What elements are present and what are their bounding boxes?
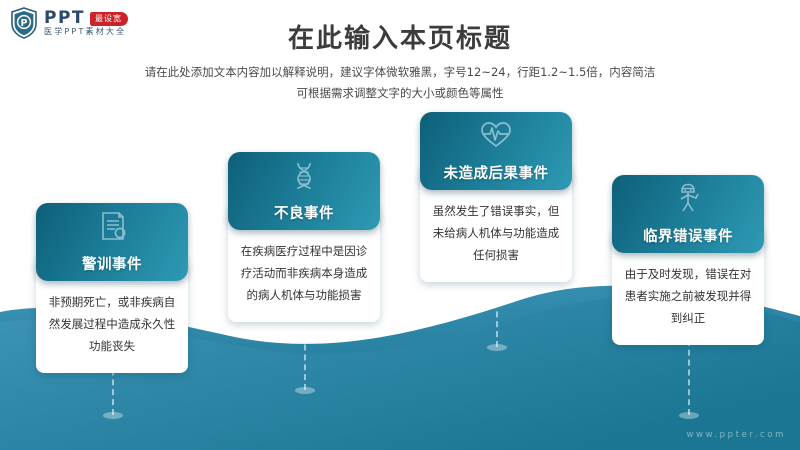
subtitle-line-1: 请在此处添加文本内容加以解释说明，建议字体微软雅黑，字号12~24，行距1.2~… (0, 62, 800, 83)
dna-helix-icon (287, 159, 321, 191)
card-title-1: 警训事件 (82, 258, 142, 273)
slide-canvas: P PPT 最设宽 医学PPT素材大全 在此输入本页标题 请在此处添加文本内容加… (0, 0, 800, 450)
certificate-document-icon (95, 210, 129, 242)
doctor-person-icon (671, 182, 705, 214)
event-card-1[interactable]: 警训事件 非预期死亡，或非疾病自然发展过程中造成永久性功能丧失 (36, 203, 188, 373)
card-title-4: 临界错误事件 (643, 230, 733, 245)
card-title-2: 不良事件 (274, 207, 334, 222)
card-header-4: 临界错误事件 (612, 175, 764, 253)
page-title: 在此输入本页标题 (0, 18, 800, 55)
subtitle-line-2: 可根据需求调整文字的大小或颜色等属性 (0, 83, 800, 104)
card-header-2: 不良事件 (228, 152, 380, 230)
heart-ecg-icon (479, 119, 513, 151)
card-stem-base-3 (487, 344, 507, 351)
card-stem-base-2 (295, 387, 315, 394)
card-header-3: 未造成后果事件 (420, 112, 572, 190)
site-watermark: www.ppter.com (686, 430, 786, 440)
card-stem-base-4 (679, 412, 699, 419)
event-card-3[interactable]: 未造成后果事件 虽然发生了错误事实，但未给病人机体与功能造成任何损害 (420, 112, 572, 282)
card-header-1: 警训事件 (36, 203, 188, 281)
page-subtitle: 请在此处添加文本内容加以解释说明，建议字体微软雅黑，字号12~24，行距1.2~… (0, 62, 800, 104)
event-card-2[interactable]: 不良事件 在疾病医疗过程中是因诊疗活动而非疾病本身造成的病人机体与功能损害 (228, 152, 380, 322)
card-stem-base-1 (103, 412, 123, 419)
card-title-3: 未造成后果事件 (444, 167, 549, 182)
event-card-4[interactable]: 临界错误事件 由于及时发现，错误在对患者实施之前被发现并得到纠正 (612, 175, 764, 345)
